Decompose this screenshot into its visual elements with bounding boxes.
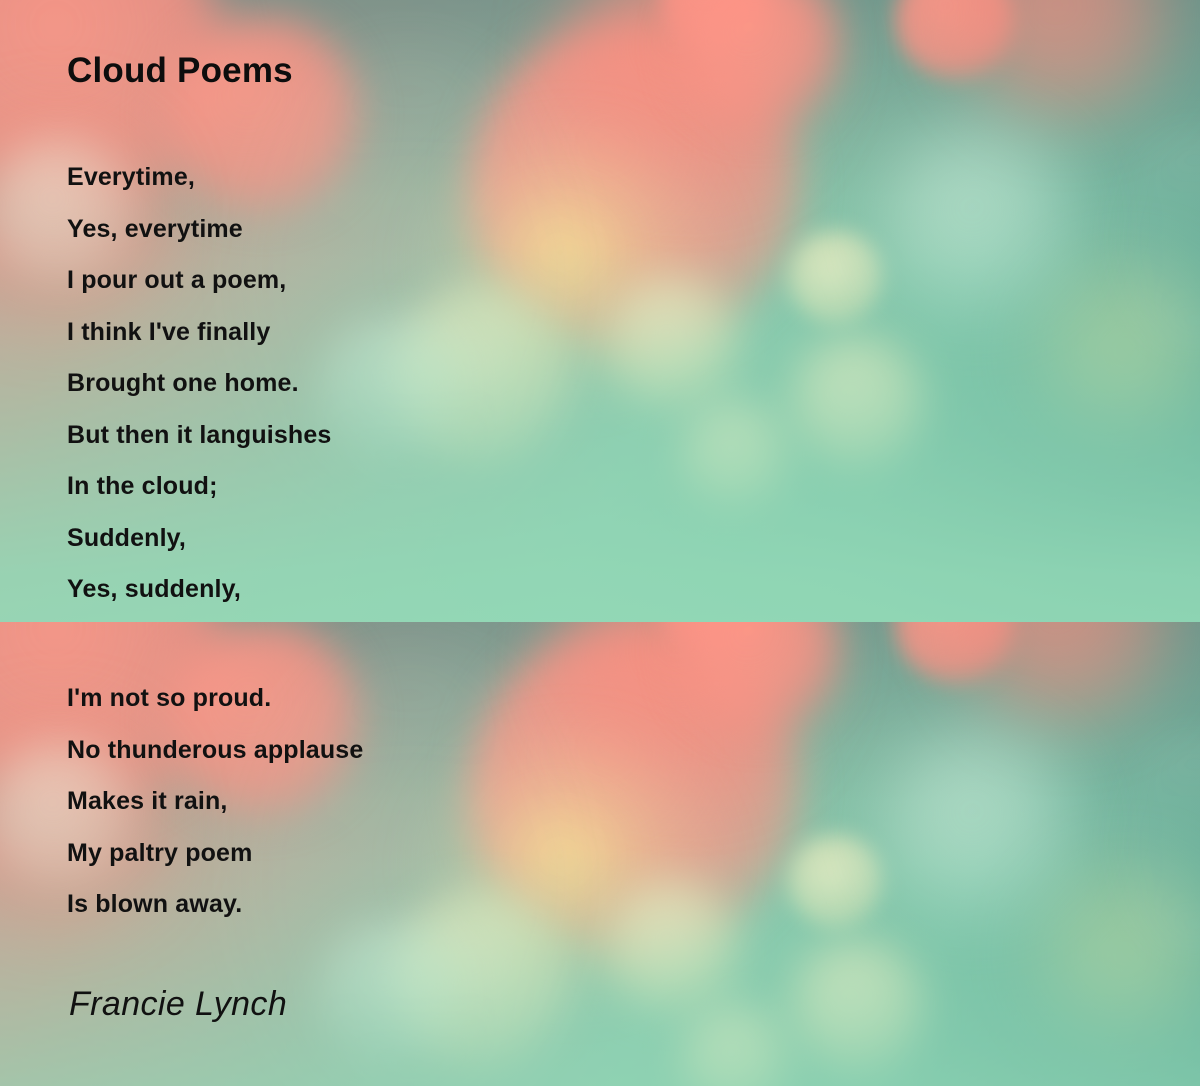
poem-text-layer: Cloud Poems Everytime, Yes, everytime I … — [0, 0, 1200, 1086]
poem-line: In the cloud; — [67, 461, 331, 513]
poem-image-card: Cloud Poems Everytime, Yes, everytime I … — [0, 0, 1200, 1086]
author-byline: Francie Lynch — [69, 985, 287, 1024]
poem-line: Brought one home. — [67, 358, 331, 410]
poem-line: Yes, suddenly, — [67, 564, 331, 616]
poem-line: Everytime, — [67, 152, 331, 204]
poem-line: No thunderous applause — [67, 725, 363, 777]
poem-stanza-1: Everytime, Yes, everytime I pour out a p… — [67, 152, 331, 616]
poem-line: But then it languishes — [67, 410, 331, 462]
poem-line: I think I've finally — [67, 307, 331, 359]
poem-line: My paltry poem — [67, 828, 363, 880]
poem-line: I'm not so proud. — [67, 673, 363, 725]
poem-line: Is blown away. — [67, 879, 363, 931]
poem-line: I pour out a poem, — [67, 255, 331, 307]
poem-line: Makes it rain, — [67, 776, 363, 828]
poem-line: Yes, everytime — [67, 204, 331, 256]
poem-line: Suddenly, — [67, 513, 331, 565]
poem-stanza-2: I'm not so proud. No thunderous applause… — [67, 673, 363, 931]
page-title: Cloud Poems — [67, 50, 293, 92]
